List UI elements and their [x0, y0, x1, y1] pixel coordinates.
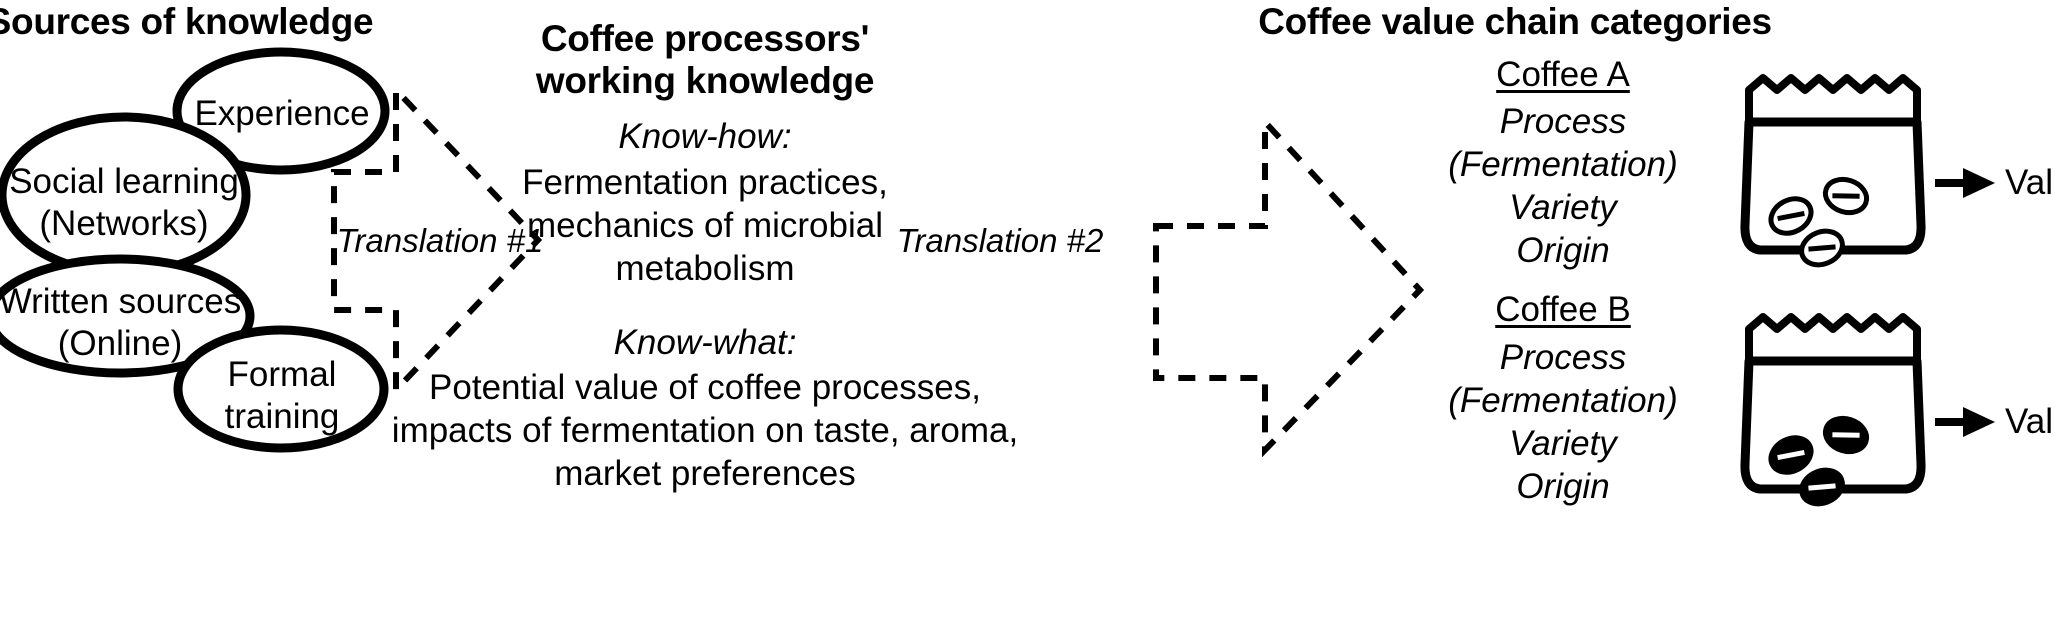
know-what-heading: Know-what: [614, 325, 797, 360]
coffee-a-attribute-process: Process [1500, 104, 1626, 139]
translation-2-arrow [1156, 122, 1420, 450]
know-what-line-1: Potential value of coffee processes, [429, 370, 981, 405]
ellipse-label-written-sources-line2: (Online) [58, 323, 182, 364]
coffee-a-output-value: Value(s) [2005, 165, 2055, 200]
ellipse-label-social-learning-line1: Social learning [9, 161, 239, 202]
coffee-bag-a [1745, 78, 1995, 271]
heading-working-knowledge-line2: working knowledge [536, 62, 874, 99]
coffee-a-attribute-variety: Variety [1509, 190, 1617, 225]
know-what-line-3: market preferences [554, 456, 856, 491]
coffee-a-attribute-fermentation: (Fermentation) [1448, 147, 1678, 182]
know-what-line-2: impacts of fermentation on taste, aroma, [392, 413, 1018, 448]
heading-value-chain-categories: Coffee value chain categories [1258, 3, 1772, 40]
coffee-b-attribute-process: Process [1500, 340, 1626, 375]
label-translation-2: Translation #2 [897, 224, 1104, 257]
coffee-b-attribute-fermentation: (Fermentation) [1448, 383, 1678, 418]
ellipse-label-formal-training-line1: Formal [228, 354, 337, 395]
ellipse-label-experience: Experience [194, 93, 369, 134]
ellipse-label-social-learning-line2: (Networks) [39, 203, 208, 244]
heading-sources-of-knowledge: Sources of knowledge [0, 3, 373, 40]
diagram-canvas: Sources of knowledge Coffee processors' … [0, 0, 2055, 634]
coffee-a-name: Coffee A [1496, 57, 1630, 92]
coffee-a-value-arrow [1935, 168, 1995, 198]
coffee-b-output-value: Value(s) [2005, 404, 2055, 439]
know-how-line-1: Fermentation practices, [522, 165, 888, 200]
ellipse-label-written-sources-line1: Written sources [0, 281, 241, 322]
coffee-bag-b [1745, 317, 1995, 510]
know-how-line-3: metabolism [616, 251, 795, 286]
heading-working-knowledge-line1: Coffee processors' [541, 20, 869, 57]
ellipse-label-formal-training-line2: training [225, 396, 340, 437]
label-translation-1: Translation #1 [337, 224, 544, 257]
coffee-b-value-arrow [1935, 407, 1995, 437]
coffee-b-attribute-variety: Variety [1509, 426, 1617, 461]
coffee-b-name: Coffee B [1495, 292, 1631, 327]
know-how-line-2: mechanics of microbial [527, 208, 883, 243]
coffee-a-attribute-origin: Origin [1516, 233, 1609, 268]
coffee-b-attribute-origin: Origin [1516, 469, 1609, 504]
know-how-heading: Know-how: [618, 119, 791, 154]
